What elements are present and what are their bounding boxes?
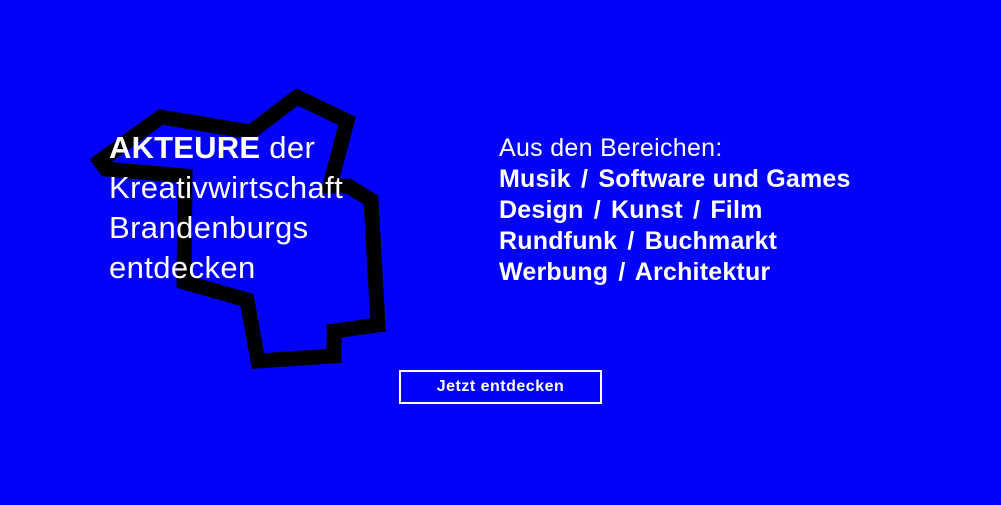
sector-separator-icon: / [615,258,628,286]
sector-separator-icon: / [578,165,591,193]
sector-item-software-und-games: Software und Games [598,165,850,193]
sector-item-musik: Musik [499,165,571,193]
sector-item-design: Design [499,196,584,224]
sector-separator-icon: / [690,196,703,224]
sector-line-3: Rundfunk / Buchmarkt [499,226,851,257]
headline-line-4: entdecken [109,248,449,288]
headline-line-3: Brandenburgs [109,208,449,248]
sector-item-kunst: Kunst [611,196,683,224]
sector-line-1: Musik / Software und Games [499,164,851,195]
sector-item-buchmarkt: Buchmarkt [645,227,777,255]
headline-line-1-rest: der [260,130,315,165]
sector-line-4: Werbung / Architektur [499,257,851,288]
headline-line-2: Kreativwirtschaft [109,168,449,208]
sector-item-rundfunk: Rundfunk [499,227,617,255]
sector-item-werbung: Werbung [499,258,608,286]
hero-banner: AKTEURE der Kreativwirtschaft Brandenbur… [0,0,1001,505]
sector-list: Aus den Bereichen: Musik / Software und … [499,133,851,288]
discover-now-button[interactable]: Jetzt entdecken [399,370,602,404]
sector-item-film: Film [710,196,762,224]
headline-line-1: AKTEURE der [109,128,449,168]
sector-line-2: Design / Kunst / Film [499,195,851,226]
sector-separator-icon: / [624,227,637,255]
page-title: AKTEURE der Kreativwirtschaft Brandenbur… [109,128,449,288]
sector-item-architektur: Architektur [635,258,771,286]
sector-list-intro: Aus den Bereichen: [499,133,851,164]
sector-separator-icon: / [591,196,604,224]
headline-emphasis: AKTEURE [109,130,260,165]
